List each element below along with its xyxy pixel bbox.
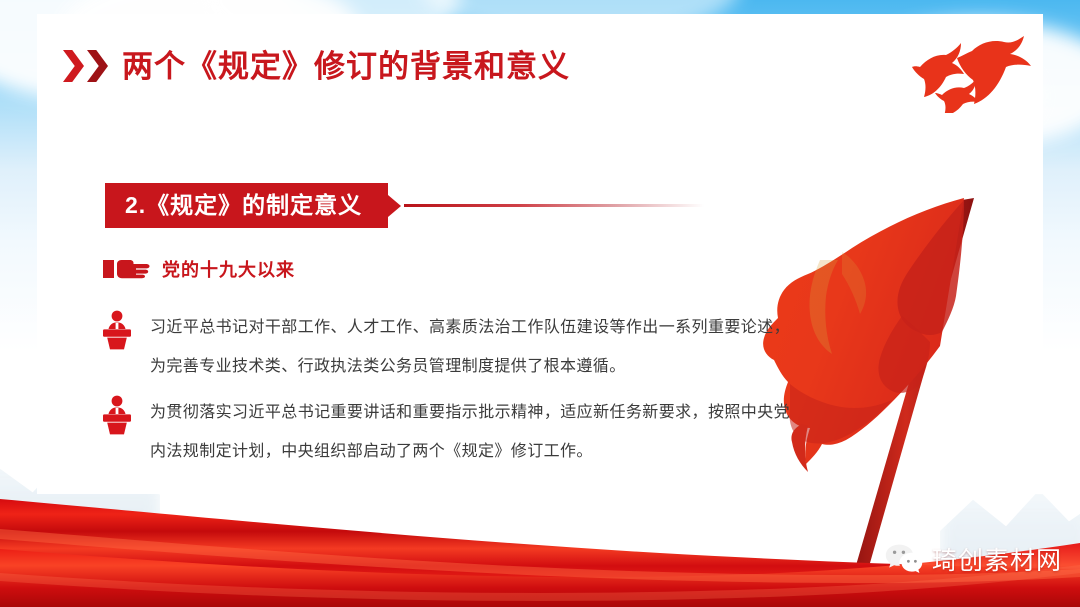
section-divider-line (404, 204, 704, 207)
paragraph-text: 习近平总书记对干部工作、人才工作、高素质法治工作队伍建设等作出一系列重要论述，为… (150, 308, 790, 386)
double-chevron-right-icon (63, 50, 108, 82)
watermark: 琦创素材网 (885, 541, 1062, 577)
wechat-icon (885, 543, 923, 576)
chevron-right-icon (63, 50, 84, 82)
podium-speaker-icon (100, 310, 134, 350)
pointing-hand-icon (103, 258, 150, 280)
presentation-slide: 两个《规定》修订的背景和意义 2.《规定》的制定意义 党的十九大以来 习近平总书… (0, 0, 1080, 607)
chevron-right-icon (87, 50, 108, 82)
page-title: 两个《规定》修订的背景和意义 (122, 51, 570, 82)
subheading: 党的十九大以来 (103, 256, 295, 282)
podium-speaker-icon (100, 395, 134, 435)
paragraph-text: 为贯彻落实习近平总书记重要讲话和重要指示批示精神，适应新任务新要求，按照中央党内… (150, 393, 790, 471)
section-header: 2.《规定》的制定意义 (105, 183, 704, 228)
watermark-label: 琦创素材网 (932, 541, 1062, 577)
subheading-label: 党的十九大以来 (162, 256, 295, 282)
section-badge: 2.《规定》的制定意义 (105, 183, 388, 228)
three-flying-doves-icon (900, 33, 1040, 113)
bullet-paragraph: 习近平总书记对干部工作、人才工作、高素质法治工作队伍建设等作出一系列重要论述，为… (100, 308, 790, 386)
bullet-paragraph: 为贯彻落实习近平总书记重要讲话和重要指示批示精神，适应新任务新要求，按照中央党内… (100, 393, 790, 471)
slide-title-row: 两个《规定》修订的背景和意义 (63, 50, 570, 82)
